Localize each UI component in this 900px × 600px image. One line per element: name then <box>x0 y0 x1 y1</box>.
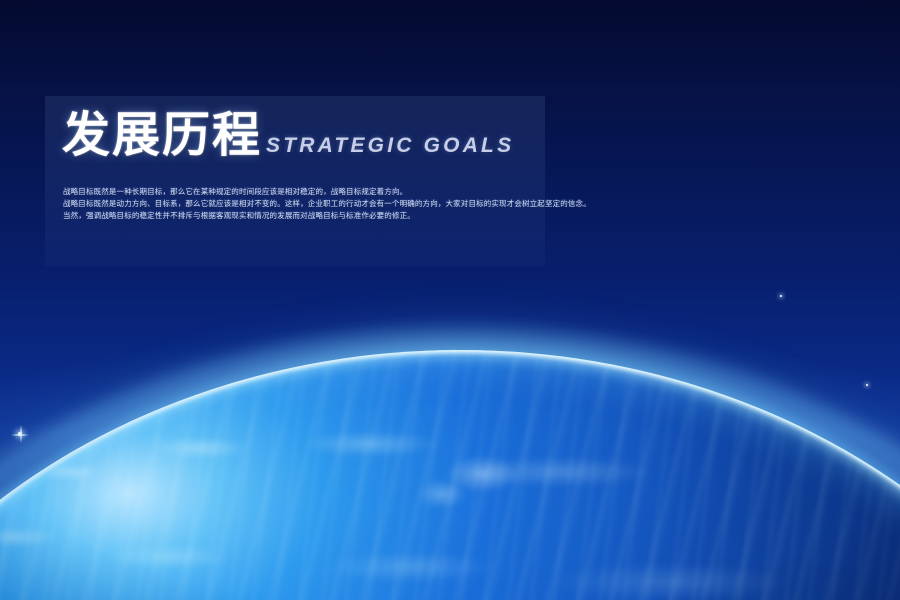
star-small <box>452 352 454 354</box>
page-subtitle: STRATEGIC GOALS <box>266 134 514 160</box>
description-line: 战略目标既然是一种长期目标，那么它在某种规定的时间段应该是相对稳定的，战略目标规… <box>63 186 535 198</box>
star-small <box>780 295 782 297</box>
earth-cloud-streaks <box>0 352 900 600</box>
earth-illustration <box>0 0 900 600</box>
hero-description: 战略目标既然是一种长期目标，那么它在某种规定的时间段应该是相对稳定的，战略目标规… <box>63 186 535 222</box>
earth-cloud-layer <box>0 352 900 600</box>
page-title: 发展历程 <box>62 112 262 160</box>
hero-headline: 发展历程 STRATEGIC GOALS <box>62 112 514 160</box>
description-line: 当然，强调战略目标的稳定性并不排斥与根据客观现实和情况的发展而对战略目标与标准作… <box>63 210 535 222</box>
description-line: 战略目标既然是动力方向、目标系，那么它就应该是相对不变的。这样，企业职工的行动才… <box>63 198 535 210</box>
earth-landmass <box>0 352 900 600</box>
star-small <box>620 388 622 390</box>
star-small <box>158 416 160 418</box>
star-small <box>866 384 868 386</box>
atmosphere-glow <box>0 320 900 600</box>
earth-limb-highlight <box>0 350 900 600</box>
earth-sphere <box>0 352 900 600</box>
vignette-overlay <box>0 0 900 600</box>
hero-banner: 发展历程 STRATEGIC GOALS 战略目标既然是一种长期目标，那么它在某… <box>0 0 900 600</box>
star-core <box>18 432 22 436</box>
